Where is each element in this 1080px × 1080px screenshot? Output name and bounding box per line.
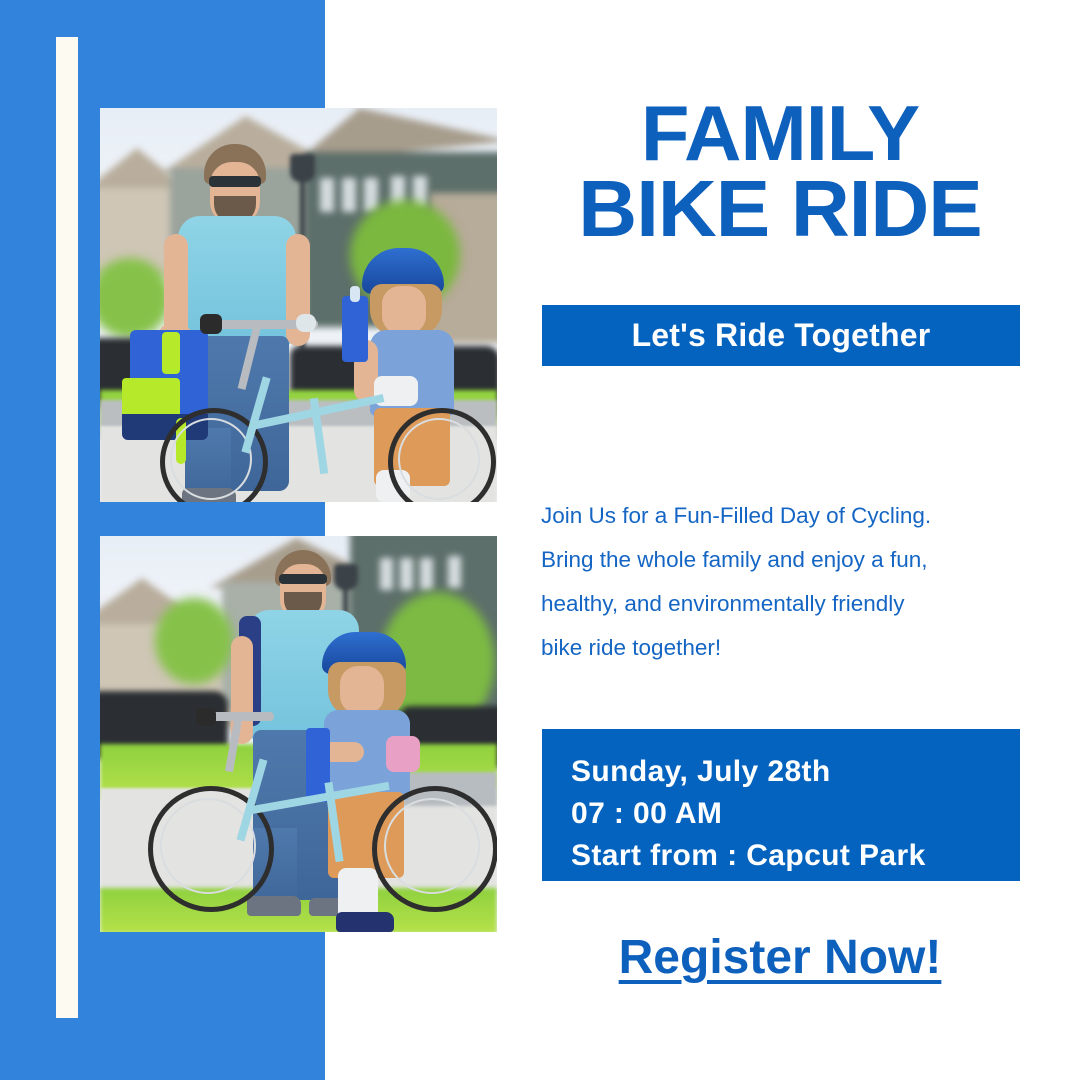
body-line-3: healthy, and environmentally friendly xyxy=(541,582,1021,626)
event-details-lines: Sunday, July 28th 07 : 00 AM Start from … xyxy=(571,751,1010,877)
event-date: Sunday, July 28th xyxy=(571,751,1010,793)
subtitle-text: Let's Ride Together xyxy=(632,317,931,354)
subtitle-band: Let's Ride Together xyxy=(542,305,1020,366)
title-line-1: FAMILY xyxy=(515,96,1045,171)
event-details-box: Sunday, July 28th 07 : 00 AM Start from … xyxy=(542,729,1020,881)
event-time: 07 : 00 AM xyxy=(571,793,1010,835)
photo-top-scene xyxy=(100,108,497,502)
body-paragraph: Join Us for a Fun-Filled Day of Cycling.… xyxy=(541,494,1021,670)
title-line-2: BIKE RIDE xyxy=(515,171,1045,248)
register-now-link[interactable]: Register Now! xyxy=(520,930,1040,985)
body-line-2: Bring the whole family and enjoy a fun, xyxy=(541,538,1021,582)
water-bottle xyxy=(342,296,368,362)
cream-vertical-stripe xyxy=(56,37,78,1018)
photo-father-and-child-with-bike-top xyxy=(100,108,497,502)
photo-father-and-child-hugging-bottom xyxy=(100,536,497,932)
tree-left xyxy=(155,598,233,684)
elbow-pad xyxy=(386,736,420,772)
photo-bottom-scene xyxy=(100,536,497,932)
body-line-1: Join Us for a Fun-Filled Day of Cycling. xyxy=(541,494,1021,538)
poster-canvas: FAMILY BIKE RIDE Let's Ride Together Joi… xyxy=(0,0,1080,1080)
register-now-label[interactable]: Register Now! xyxy=(619,931,942,984)
page-title: FAMILY BIKE RIDE xyxy=(515,96,1045,248)
body-line-4: bike ride together! xyxy=(541,626,1021,670)
event-location: Start from : Capcut Park xyxy=(571,835,1010,877)
